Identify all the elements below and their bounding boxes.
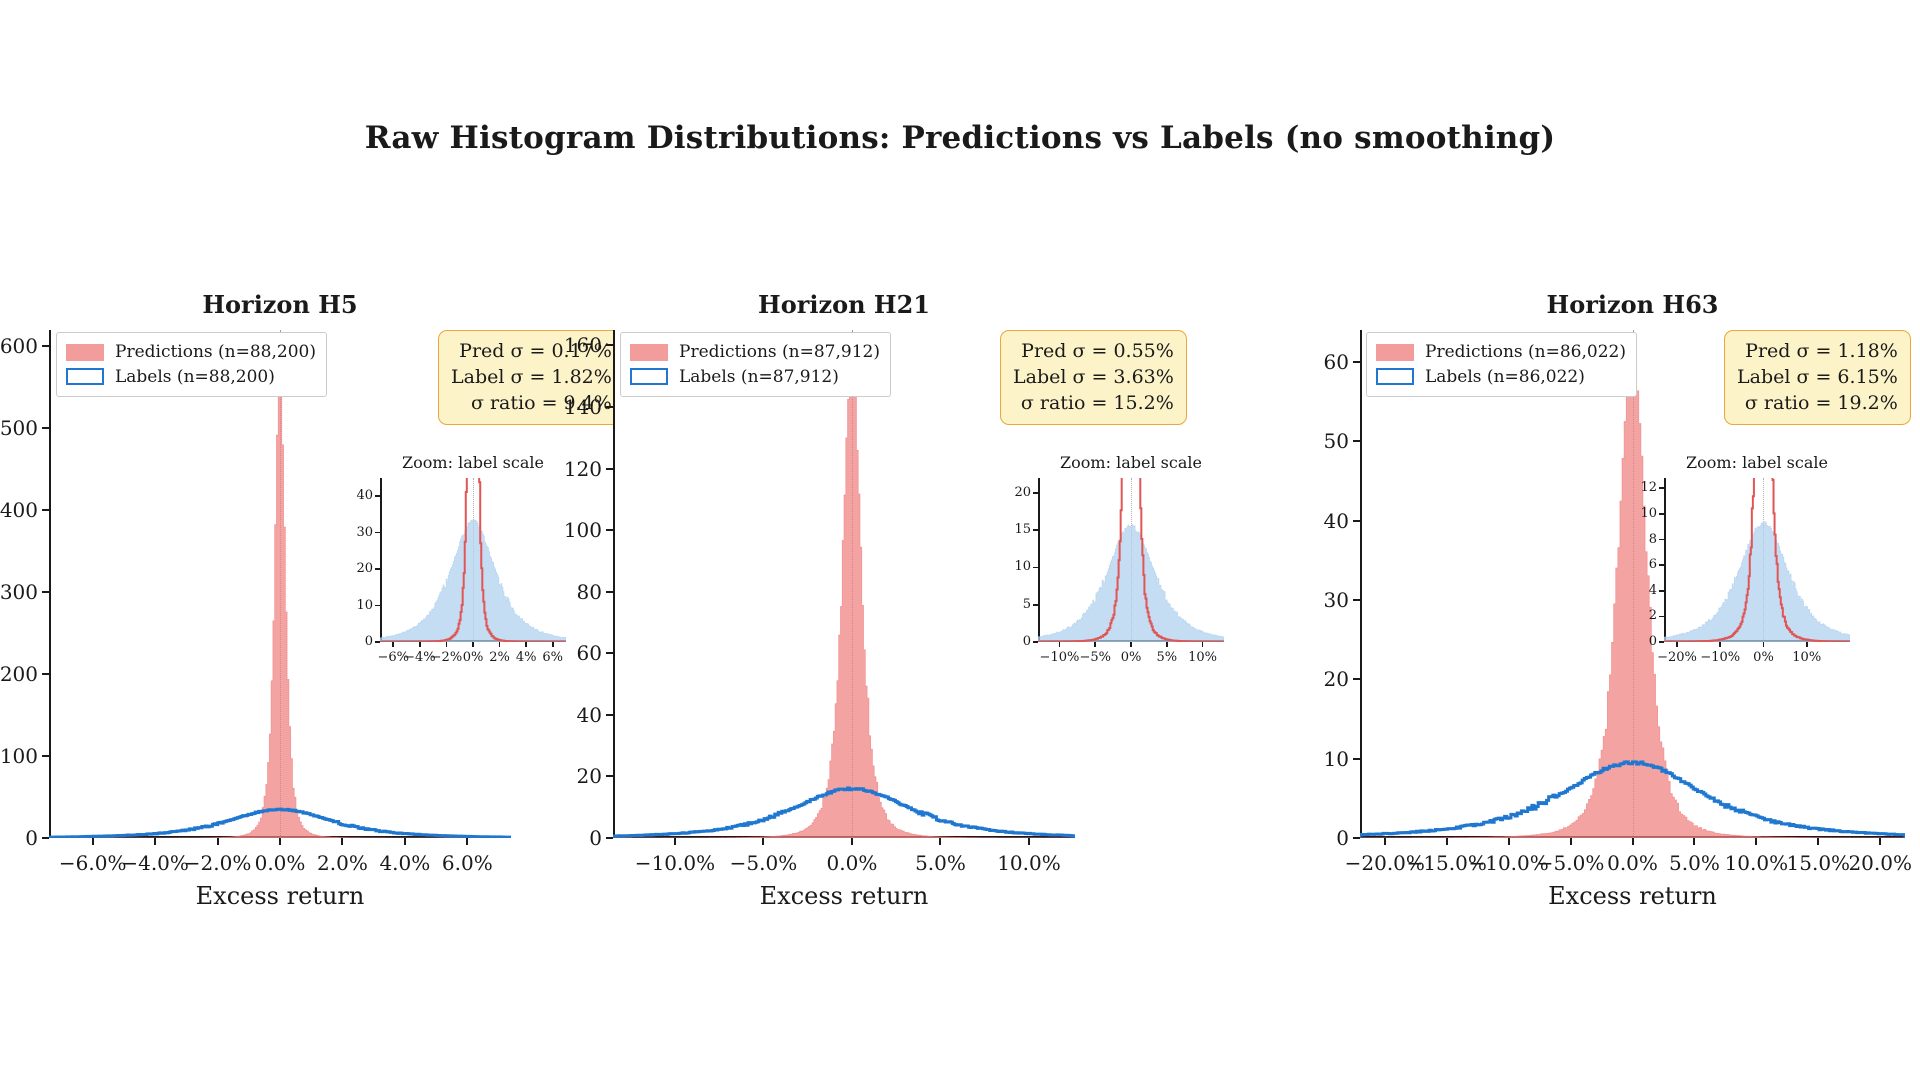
x-tick-mark: [1817, 838, 1819, 845]
inset-axes: Zoom: label scale024681012−20%−10%0%10%: [1664, 478, 1850, 642]
legend-label: Predictions (n=86,022): [1425, 340, 1626, 365]
inset-plot-area: [1664, 478, 1850, 642]
x-tick-mark: [1508, 838, 1510, 845]
x-tick-mark: [1570, 838, 1572, 845]
stat-sigma-ratio: σ ratio = 19.2%: [1737, 390, 1898, 416]
y-tick-mark: [1353, 440, 1360, 442]
legend-swatch-predictions-icon: [1376, 344, 1414, 361]
inset-x-tick-mark: [1719, 642, 1721, 647]
y-tick-mark: [1353, 361, 1360, 363]
x-tick-mark: [1879, 838, 1881, 845]
figure-canvas: Raw Histogram Distributions: Predictions…: [0, 0, 1920, 1080]
inset-x-tick-mark: [1676, 642, 1678, 647]
x-tick-mark: [1446, 838, 1448, 845]
y-tick-mark: [1353, 599, 1360, 601]
x-tick-mark: [1384, 838, 1386, 845]
panel-title: Horizon H63: [1360, 290, 1905, 319]
x-tick-mark: [1632, 838, 1634, 845]
legend-entry[interactable]: Predictions (n=86,022): [1376, 340, 1626, 365]
y-tick-mark: [1353, 520, 1360, 522]
x-tick-mark: [1755, 838, 1757, 845]
panel-horizon-h63: Horizon H630102030405060−20.0%−15.0%−10.…: [0, 0, 1920, 1080]
sigma-stats-box: Pred σ = 1.18%Label σ = 6.15%σ ratio = 1…: [1724, 330, 1911, 425]
y-tick-mark: [1353, 758, 1360, 760]
stat-label-sigma: Label σ = 6.15%: [1737, 364, 1898, 390]
x-axis-label: Excess return: [1360, 882, 1905, 910]
legend[interactable]: Predictions (n=86,022)Labels (n=86,022): [1366, 332, 1637, 397]
y-tick-mark: [1353, 678, 1360, 680]
legend-label: Labels (n=86,022): [1425, 365, 1585, 390]
inset-x-tick-mark: [1763, 642, 1765, 647]
legend-swatch-labels-icon: [1376, 368, 1414, 385]
inset-title: Zoom: label scale: [1664, 453, 1850, 472]
stat-pred-sigma: Pred σ = 1.18%: [1737, 338, 1898, 364]
x-tick-mark: [1693, 838, 1695, 845]
legend-entry[interactable]: Labels (n=86,022): [1376, 365, 1626, 390]
inset-x-tick-mark: [1806, 642, 1808, 647]
